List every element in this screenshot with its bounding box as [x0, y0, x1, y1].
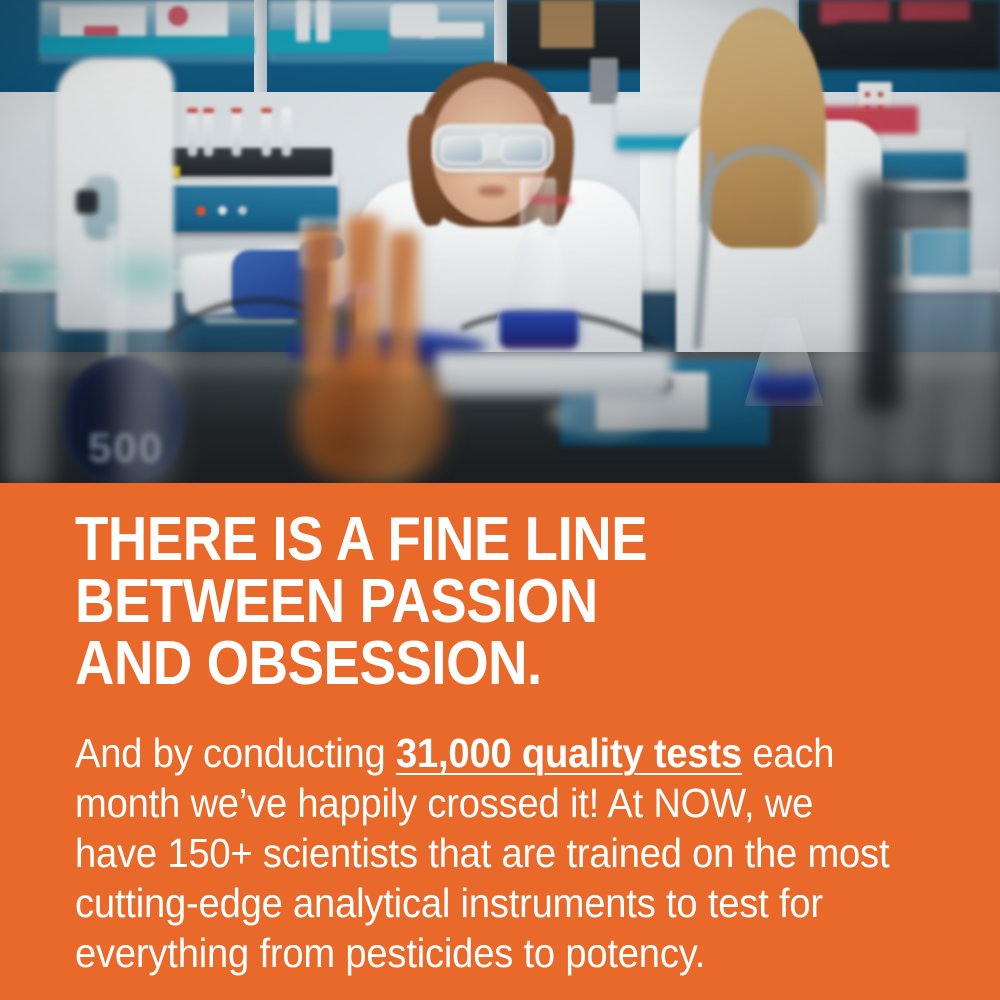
mouth	[478, 186, 506, 196]
glass-column	[944, 206, 1000, 483]
cylinder-teal-band	[6, 266, 54, 280]
dark-rack-post	[860, 180, 900, 410]
amber-round-flask	[296, 352, 446, 483]
test-tube	[232, 110, 241, 156]
instrument-led	[218, 206, 227, 215]
body-copy: And by conducting 31,000 quality tests e…	[75, 728, 893, 978]
cabinet-red-label	[168, 6, 188, 26]
graduated-cylinder	[118, 258, 170, 483]
instrument-led	[238, 206, 247, 215]
test-tube	[262, 110, 271, 156]
orange-message-panel: THERE IS A FINE LINE BETWEEN PASSION AND…	[0, 483, 1000, 1000]
test-tube	[282, 108, 291, 156]
test-tube	[188, 110, 197, 156]
held-object	[76, 190, 98, 214]
flask-blue-liquid-right	[752, 376, 816, 404]
body-copy-lead: And by conducting	[75, 730, 396, 776]
safety-goggles	[432, 124, 554, 172]
test-tube-cap	[231, 108, 242, 113]
flask-red-marking	[530, 196, 572, 204]
petri-dish	[550, 396, 658, 436]
cylinder-teal-band	[116, 268, 172, 282]
cabinet-cyan-strip	[40, 36, 254, 54]
instrument-led	[196, 206, 206, 216]
flask-blue-liquid	[500, 312, 578, 350]
cabinet-box	[296, 0, 310, 42]
cabinet-dark-shelf	[838, 22, 978, 56]
test-tube-cap	[187, 108, 198, 113]
test-tube	[204, 110, 213, 156]
lab-photo: 500	[0, 0, 1000, 483]
cabinet-stile	[254, 0, 267, 92]
amber-column-marking	[352, 286, 378, 294]
cabinet-kraft-box	[540, 0, 594, 48]
amber-column-marking	[330, 296, 356, 306]
photo-scene: 500	[0, 0, 1000, 483]
quality-tests-emphasis: 31,000 quality tests	[396, 730, 742, 776]
test-tube-cap	[261, 108, 272, 113]
cabinet-red-label	[820, 0, 890, 24]
promo-poster: 500 THERE IS A FINE LINE BETWEEN PAS	[0, 0, 1000, 1000]
cabinet-box	[316, 0, 330, 42]
wall-panel	[590, 58, 618, 104]
erlenmeyer-neck	[520, 178, 556, 240]
white-tray	[436, 352, 672, 396]
cabinet-box	[420, 22, 484, 38]
page-title: THERE IS A FINE LINE BETWEEN PASSION AND…	[75, 509, 832, 695]
cabinet-red-label	[900, 0, 970, 22]
test-tube-cap	[203, 108, 214, 113]
